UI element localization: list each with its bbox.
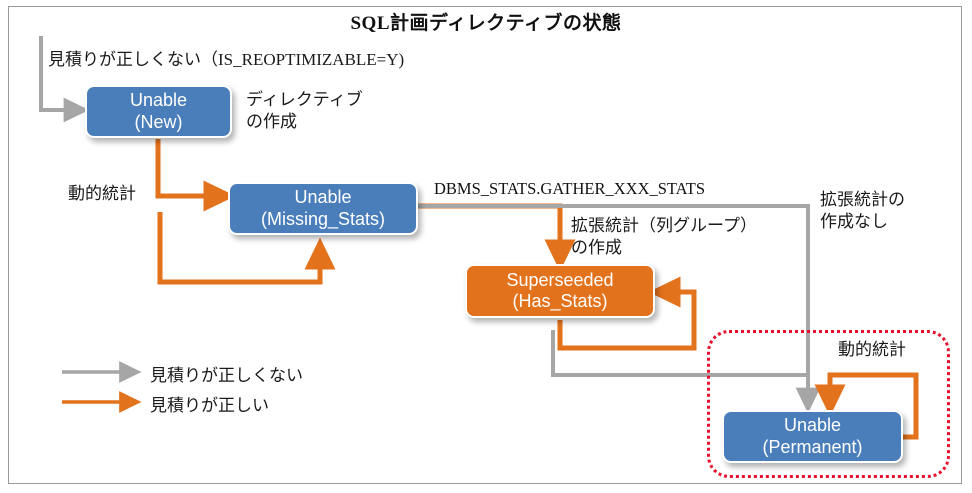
node-unable-permanent-line2: (Permanent) <box>762 437 862 458</box>
node-superseeded-has-stats-line1: Superseeded <box>506 270 613 291</box>
label-dynamic-stats-right: 動的統計 <box>838 340 906 361</box>
label-is-reoptimizable: 見積りが正しくない（IS_REOPTIMIZABLE=Y) <box>48 50 404 71</box>
node-superseeded-has-stats[interactable]: Superseeded (Has_Stats) <box>465 264 655 318</box>
node-unable-new-line2: (New) <box>135 112 183 133</box>
node-unable-permanent[interactable]: Unable (Permanent) <box>722 410 903 463</box>
label-extended-stats-line1: 拡張統計（列グループ） <box>571 216 757 237</box>
node-superseeded-has-stats-line2: (Has_Stats) <box>512 291 607 312</box>
label-directive-create-line1: ディレクティブ <box>246 90 363 111</box>
label-directive-create-line2: の作成 <box>246 112 297 133</box>
legend-label-orange: 見積りが正しい <box>150 391 269 416</box>
node-unable-new-line1: Unable <box>130 90 187 111</box>
page-title: SQL計画ディレクティブの状態 <box>0 8 972 35</box>
node-unable-missing-stats-line1: Unable <box>294 187 351 208</box>
label-dynamic-stats-left: 動的統計 <box>68 184 136 205</box>
label-extended-stats-line2: の作成 <box>571 238 622 259</box>
node-unable-new[interactable]: Unable (New) <box>85 85 232 138</box>
label-no-extended-stats-line2: 作成なし <box>820 212 888 233</box>
node-unable-permanent-line1: Unable <box>784 415 841 436</box>
legend-label-gray: 見積りが正しくない <box>150 361 303 386</box>
node-unable-missing-stats[interactable]: Unable (Missing_Stats) <box>228 182 418 235</box>
node-unable-missing-stats-line2: (Missing_Stats) <box>261 209 385 230</box>
label-no-extended-stats-line1: 拡張統計の <box>820 190 905 211</box>
label-gather-stats: DBMS_STATS.GATHER_XXX_STATS <box>434 179 705 199</box>
diagram-canvas: SQL計画ディレクティブの状態 <box>0 0 972 493</box>
